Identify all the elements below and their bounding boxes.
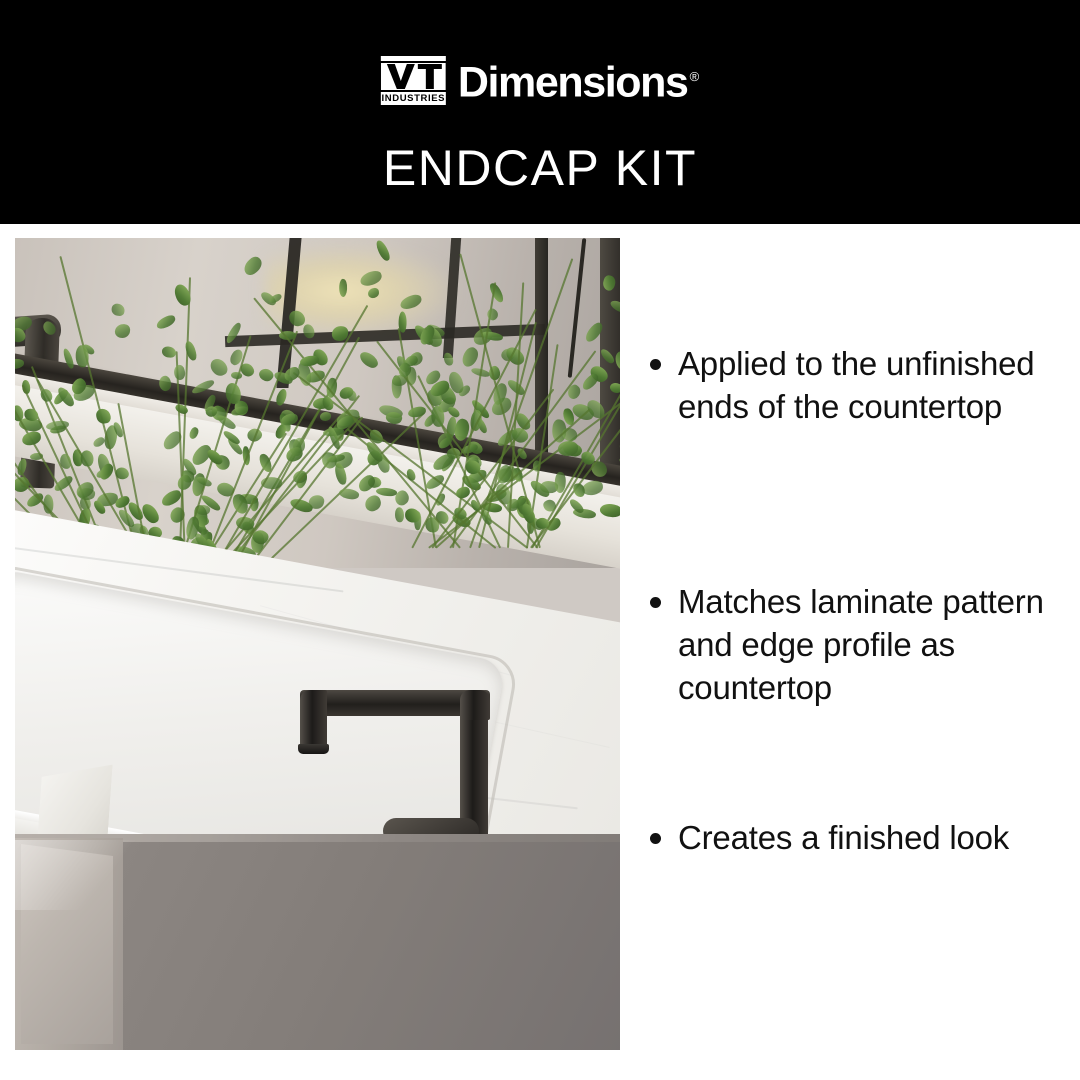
feature-bullet-list: Applied to the unfinished ends of the co… — [650, 238, 1065, 1050]
plant-leaf — [224, 321, 243, 345]
page-title: ENDCAP KIT — [0, 140, 1080, 196]
plant-leaf — [599, 502, 620, 519]
list-item: Matches laminate pattern and edge profil… — [650, 580, 1050, 709]
vt-monogram-icon — [381, 63, 446, 90]
plant-right — [345, 238, 620, 548]
plant-leaf — [615, 351, 620, 371]
plant-leaf — [79, 450, 94, 468]
plant-leaf — [154, 314, 177, 332]
plant-leaf — [444, 353, 455, 368]
brand-logo: INDUSTRIES Dimensions® — [381, 56, 699, 108]
plant-leaf — [394, 507, 404, 522]
plant-leaf — [398, 311, 407, 332]
bullet-text: Applied to the unfinished ends of the co… — [678, 342, 1050, 428]
plant-leaf — [618, 456, 620, 475]
plant-leaf — [358, 269, 382, 287]
photo-scene — [15, 238, 620, 1050]
plant-leaf — [583, 321, 605, 344]
plant-leaf — [374, 239, 391, 263]
plant-leaf — [406, 508, 421, 522]
plant-leaf — [209, 356, 231, 379]
bullet-text: Creates a finished look — [678, 816, 1009, 859]
cabinet-panel — [119, 842, 620, 1050]
logo-wordmark: Dimensions® — [458, 55, 699, 104]
plant-leaf — [609, 381, 620, 396]
registered-trademark-icon: ® — [690, 69, 700, 84]
plant-leaf — [94, 407, 111, 424]
bullet-text: Matches laminate pattern and edge profil… — [678, 580, 1050, 709]
bullet-dot-icon — [650, 359, 661, 370]
plant-leaf — [60, 453, 71, 468]
logo-wordmark-text: Dimensions — [458, 58, 688, 106]
list-item: Applied to the unfinished ends of the co… — [650, 342, 1050, 428]
plant-leaf — [609, 298, 620, 315]
plant-leaf — [602, 275, 618, 293]
plant-leaf — [459, 345, 482, 370]
plant-leaf — [91, 436, 106, 449]
logo-top-rule — [381, 56, 446, 61]
bullet-dot-icon — [650, 833, 661, 844]
cabinet-highlight — [15, 840, 135, 910]
plant-leaf — [174, 402, 189, 416]
plant-leaf — [431, 406, 444, 428]
plant-leaf — [140, 501, 161, 526]
plant-leaf — [191, 379, 216, 395]
plant-leaf — [367, 288, 379, 299]
plant-leaf — [187, 426, 200, 441]
plant-leaf — [580, 372, 601, 392]
logo-industries-label: INDUSTRIES — [381, 92, 446, 105]
header-band: INDUSTRIES Dimensions® ENDCAP KIT — [0, 0, 1080, 224]
product-photo — [15, 238, 620, 1050]
plant-leaf — [406, 468, 417, 482]
plant-leaf — [363, 494, 383, 513]
plant-leaf — [599, 347, 615, 365]
plant-leaf — [167, 505, 188, 526]
vt-industries-logo-icon: INDUSTRIES — [381, 56, 449, 106]
plant-leaf — [398, 293, 423, 311]
plant-leaf — [156, 374, 172, 392]
list-item: Creates a finished look — [650, 816, 1009, 859]
bullet-dot-icon — [650, 597, 661, 608]
